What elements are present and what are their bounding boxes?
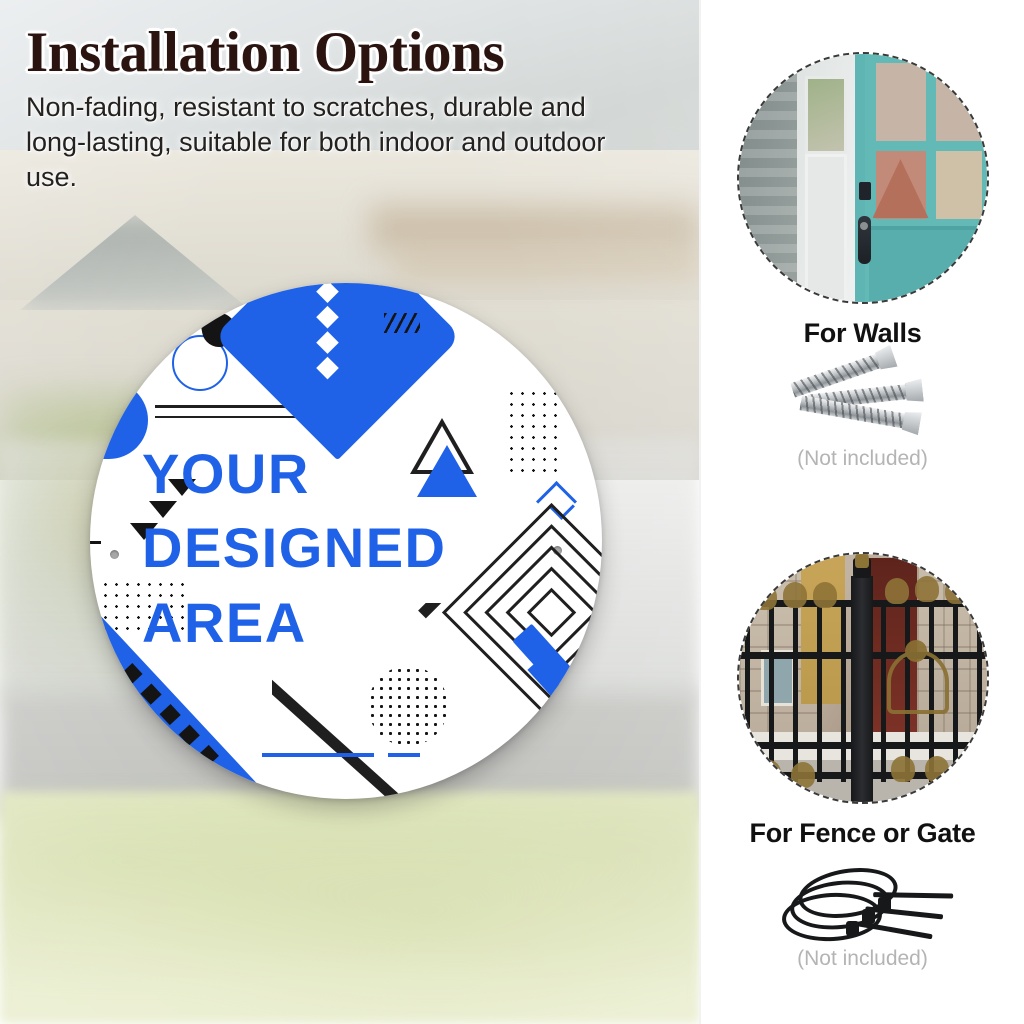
left-panel: Installation Options Non-fading, resista… xyxy=(0,0,700,1024)
diagonal-dashes-icon xyxy=(384,313,420,333)
dotted-circle-icon xyxy=(368,666,448,746)
sign-plate: YOUR DESIGNED AREA xyxy=(90,283,602,799)
page-subtitle: Non-fading, resistant to scratches, dura… xyxy=(26,90,606,195)
screws-icon xyxy=(738,355,988,439)
install-option-label-walls: For Walls xyxy=(701,318,1024,349)
install-note-walls: (Not included) xyxy=(701,447,1024,471)
sign-text-block: YOUR DESIGNED AREA xyxy=(142,437,494,660)
install-option-walls: For Walls (Not included) xyxy=(701,52,1024,471)
zip-ties-icon xyxy=(738,855,988,939)
sign-text-line-2: DESIGNED xyxy=(142,511,494,585)
blue-rule-icon xyxy=(262,753,374,757)
round-sign-preview: YOUR DESIGNED AREA xyxy=(90,283,602,799)
sign-text-line-1: YOUR xyxy=(142,437,494,511)
install-option-label-fence-gate: For Fence or Gate xyxy=(701,818,1024,849)
fence-gate-photo xyxy=(737,552,989,804)
right-panel: For Walls (Not included) xyxy=(701,0,1024,1024)
blue-rule-icon xyxy=(388,753,420,757)
corner-bracket-icon xyxy=(90,541,101,558)
dot-grid-icon xyxy=(506,388,564,478)
blue-quarter-shape-icon xyxy=(90,381,148,459)
page-title: Installation Options xyxy=(26,24,674,82)
wall-door-photo xyxy=(737,52,989,304)
double-rule-icon xyxy=(155,405,298,418)
mounting-hole-icon xyxy=(110,550,119,559)
sign-text-line-3: AREA xyxy=(142,586,494,660)
product-infographic: Installation Options Non-fading, resista… xyxy=(0,0,1024,1024)
heading-block: Installation Options Non-fading, resista… xyxy=(0,0,700,195)
install-option-fence-gate: For Fence or Gate (Not included) xyxy=(701,552,1024,971)
install-note-fence-gate: (Not included) xyxy=(701,947,1024,971)
